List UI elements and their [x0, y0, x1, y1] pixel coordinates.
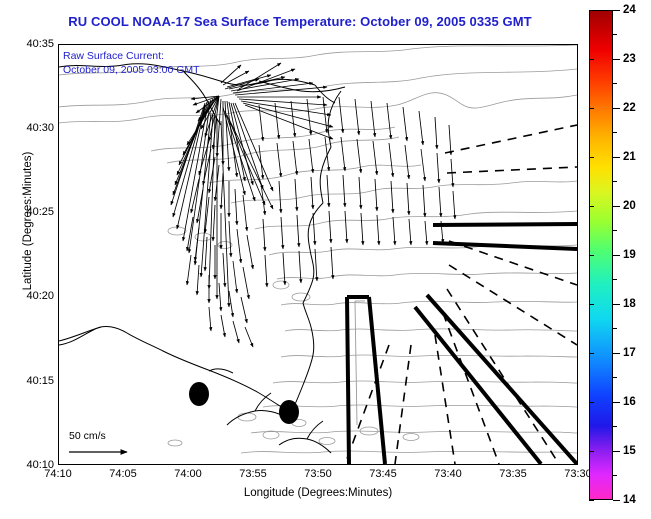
- xtick-2: 74:00: [174, 468, 202, 480]
- cb-label-10: 14: [623, 494, 636, 506]
- figure-title: RU COOL NOAA-17 Sea Surface Temperature:…: [0, 14, 600, 29]
- vector-scale-legend: 50 cm/s: [65, 430, 175, 459]
- xtick-3: 73:55: [239, 468, 267, 480]
- cb-label-9: 15: [623, 445, 636, 457]
- cb-label-4: 20: [623, 200, 636, 212]
- xtick-8: 73:30: [564, 468, 592, 480]
- cb-label-7: 17: [623, 347, 636, 359]
- xtick-4: 73:50: [304, 468, 332, 480]
- cb-label-1: 23: [623, 53, 636, 65]
- ytick-5: 40:10: [26, 459, 54, 471]
- scale-arrow-icon: [65, 445, 137, 459]
- cb-label-6: 18: [623, 298, 636, 310]
- sst-map-figure: RU COOL NOAA-17 Sea Surface Temperature:…: [0, 0, 651, 519]
- xtick-1: 74:05: [109, 468, 137, 480]
- cb-label-2: 22: [623, 102, 636, 114]
- plot-area: Raw Surface Current: October 09, 2005 03…: [58, 44, 578, 465]
- ytick-0: 40:35: [26, 38, 54, 50]
- map-canvas: [59, 45, 577, 464]
- scale-label: 50 cm/s: [69, 430, 175, 442]
- cb-label-0: 24: [623, 4, 636, 16]
- y-axis-label: Latitude (Degrees:Minutes): [22, 111, 34, 331]
- cb-label-3: 21: [623, 151, 636, 163]
- cb-label-8: 16: [623, 396, 636, 408]
- ytick-4: 40:15: [26, 375, 54, 387]
- cb-label-5: 19: [623, 249, 636, 261]
- x-axis-label: Longitude (Degrees:Minutes): [58, 487, 578, 499]
- xtick-5: 73:45: [369, 468, 397, 480]
- xtick-6: 73:40: [434, 468, 462, 480]
- xtick-7: 73:35: [499, 468, 527, 480]
